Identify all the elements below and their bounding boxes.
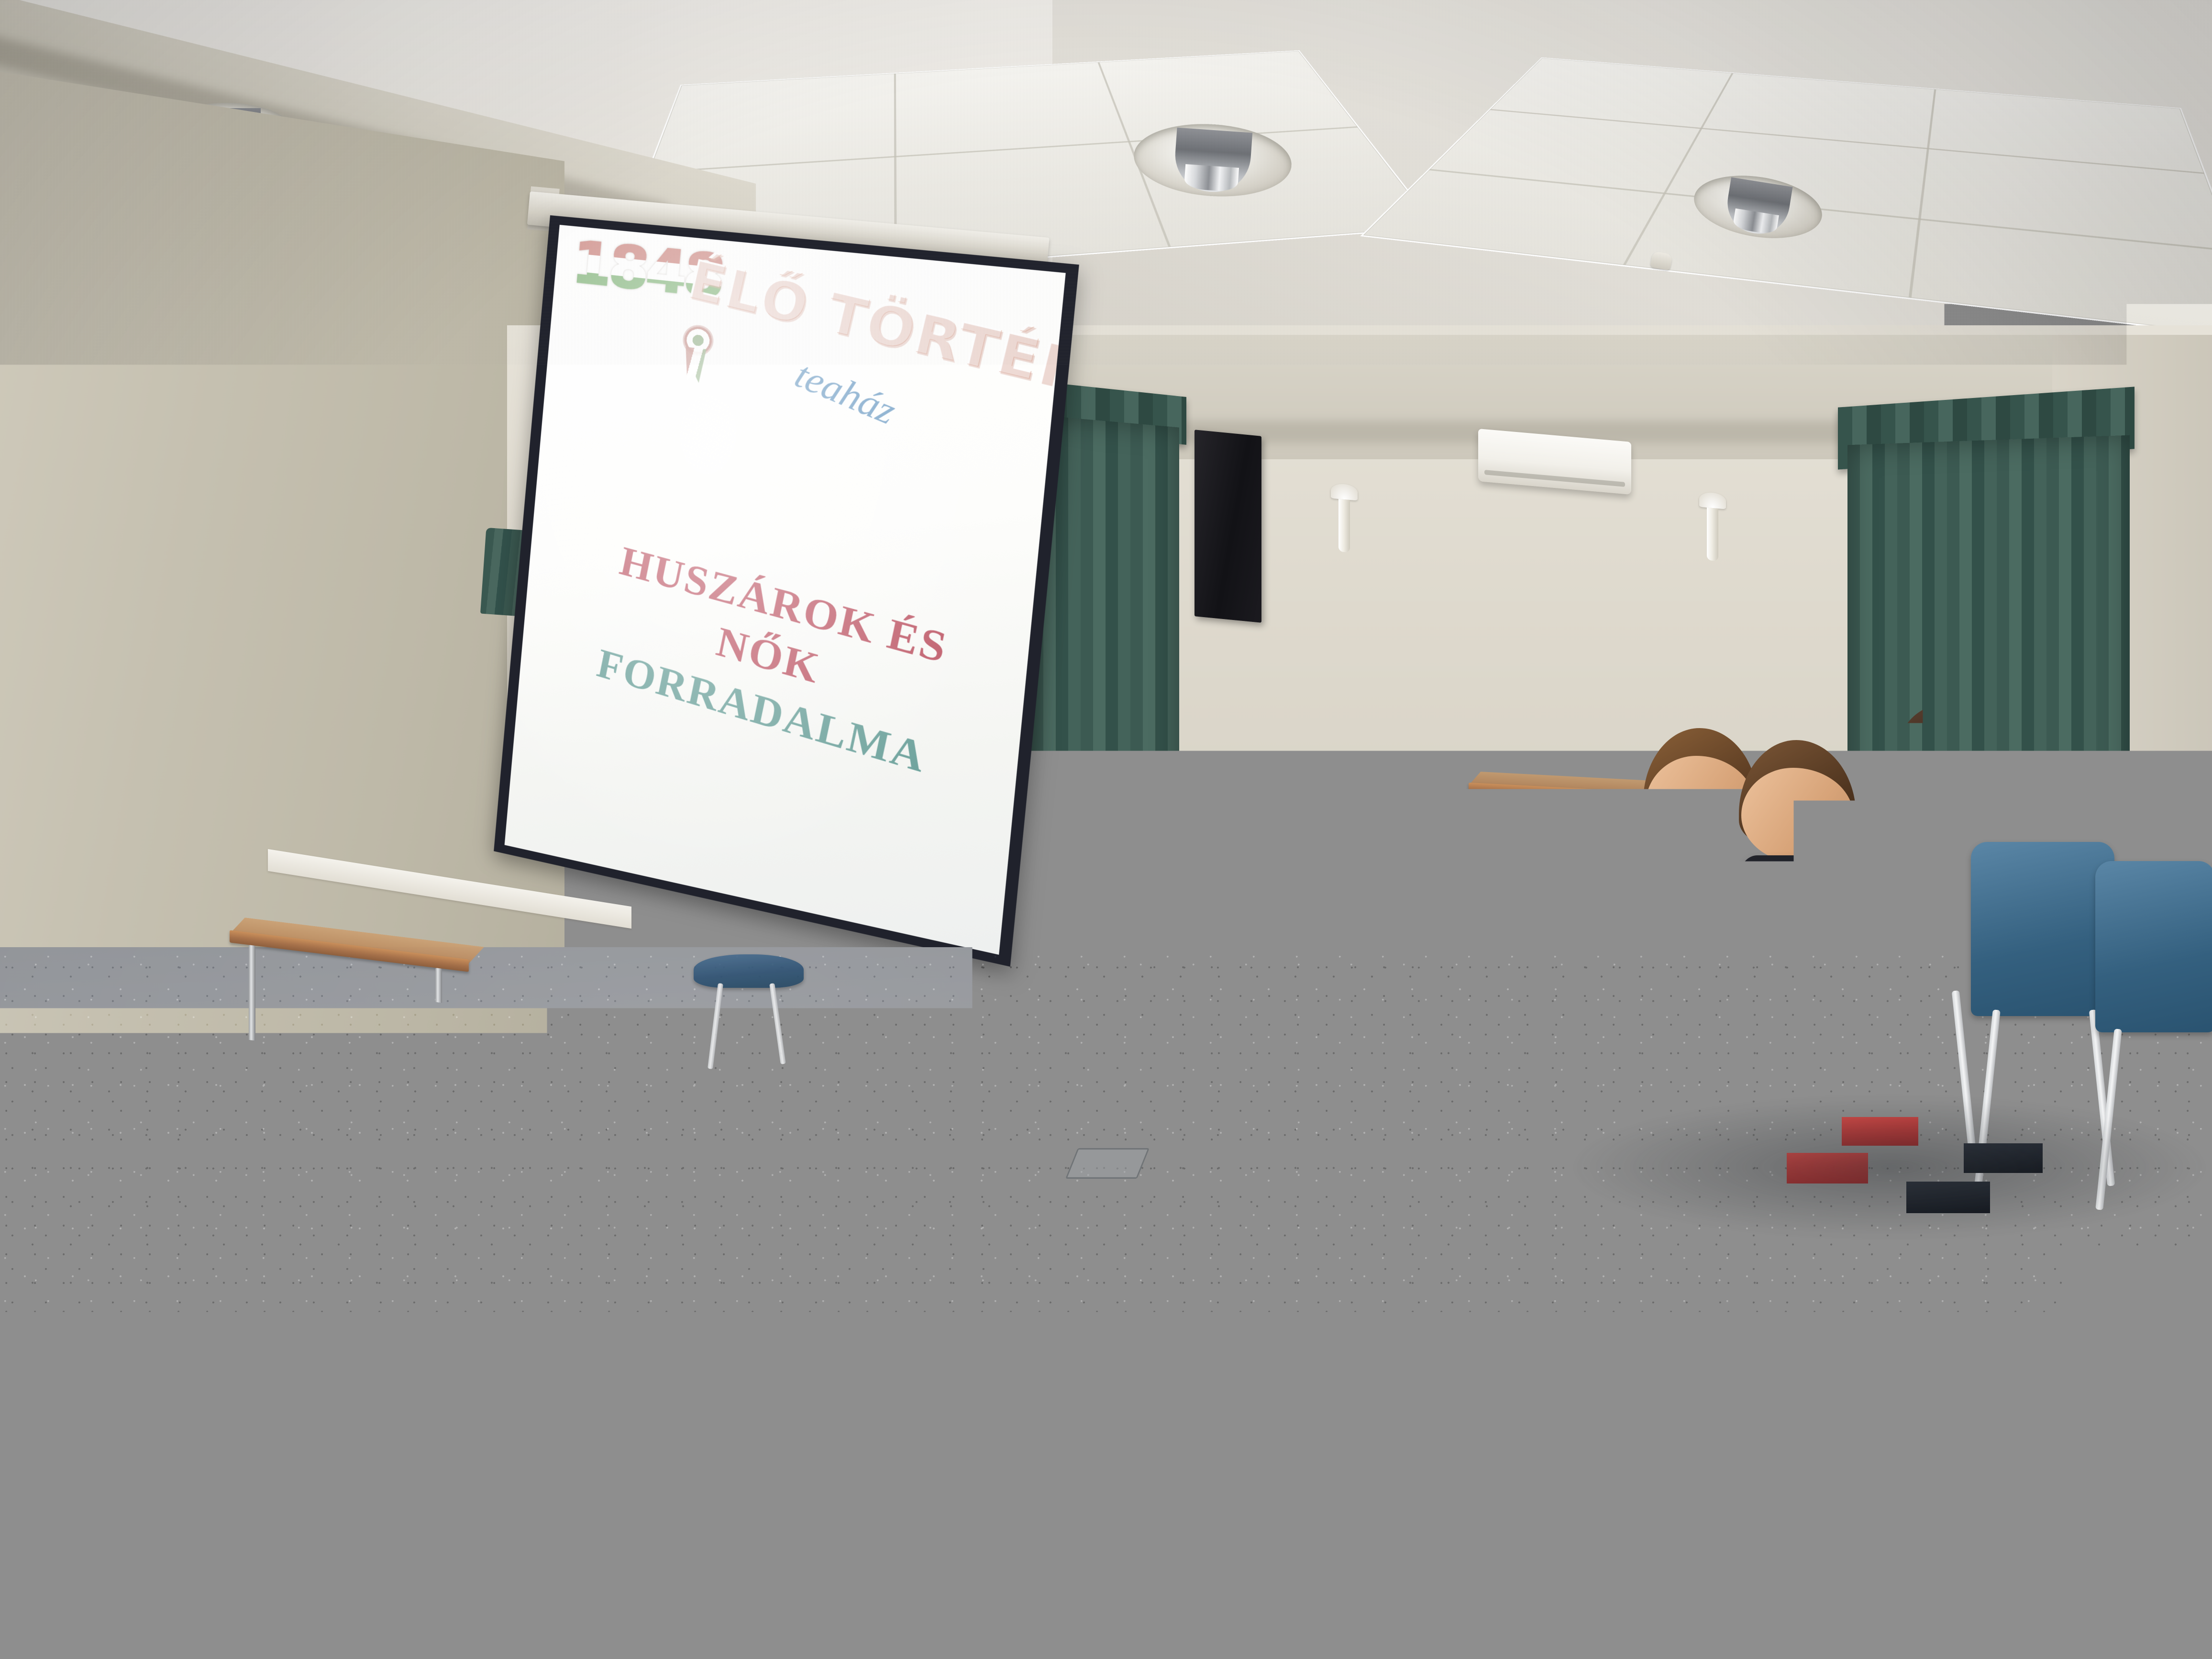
wall-sconce-left — [1331, 483, 1358, 553]
wall-speaker — [1194, 430, 1261, 622]
presenter-hand-gesturing — [684, 1038, 765, 1110]
wall-sconce-right — [1699, 492, 1726, 562]
slide-brand-subtitle: teaház — [789, 353, 903, 433]
empty-chair-left-2[interactable] — [0, 1256, 190, 1518]
slide-brand-block: ÉLŐ TÖRTÉNELEM teaház — [665, 249, 1052, 478]
presenter-speaker — [426, 617, 770, 1579]
audience-floor-shadow — [1569, 1095, 2210, 1239]
child-far-right — [2176, 746, 2212, 1072]
floor-socket-box — [1065, 1148, 1150, 1179]
presenter-ear — [512, 670, 537, 702]
presenter-leg-left — [453, 1251, 575, 1576]
presenter-arm-left — [431, 823, 526, 1119]
presentation-room-scene: 1848 ÉLŐ TÖRTÉNELEM teaház HUSZÁROK ÉS N… — [0, 0, 2212, 1659]
slide-brand-title: ÉLŐ TÖRTÉNELEM — [683, 249, 1052, 395]
